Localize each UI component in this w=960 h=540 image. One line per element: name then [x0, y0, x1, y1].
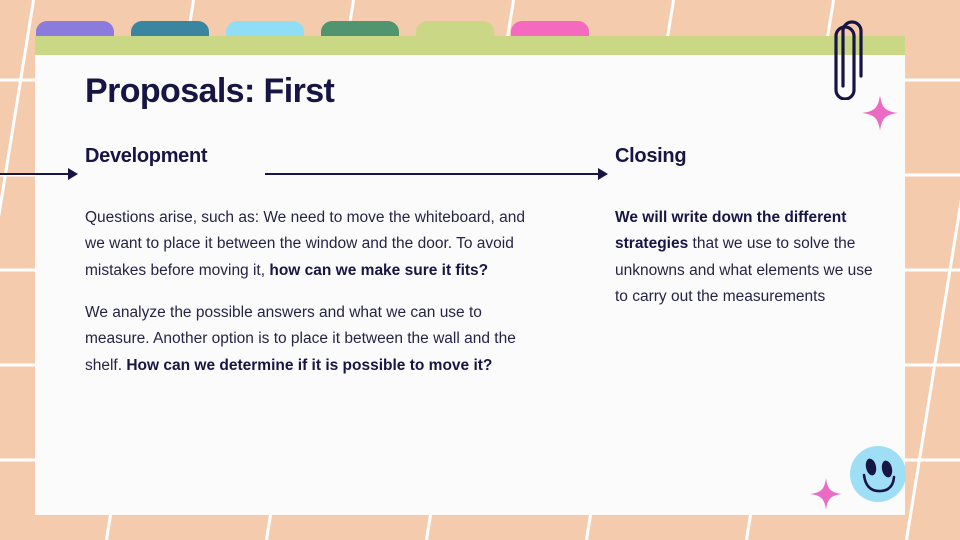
sparkle-star-bottom: [810, 478, 842, 515]
section-heading-closing: Closing: [615, 145, 686, 168]
four-point-star-icon: [810, 478, 842, 510]
four-point-star-icon: [862, 95, 898, 131]
sparkle-star-top-right: [862, 95, 898, 136]
paragraph: We analyze the possible answers and what…: [85, 300, 537, 379]
paragraph: We will write down the different strateg…: [615, 205, 883, 310]
text-run-bold: how can we make sure it fits?: [269, 262, 488, 279]
text-run-bold: How can we determine if it is possible t…: [126, 357, 492, 374]
accent-bar: [35, 36, 905, 55]
smiley-decoration: [848, 444, 908, 509]
arrow-development-to-closing: [265, 164, 610, 184]
paragraph: Questions arise, such as: We need to mov…: [85, 205, 537, 284]
paperclip-icon: [832, 14, 868, 100]
smiley-face-icon: [848, 444, 908, 504]
section-heading-development: Development: [85, 145, 207, 168]
page-title: Proposals: First: [85, 72, 334, 111]
column-closing-body: We will write down the different strateg…: [615, 205, 883, 310]
column-development-body: Questions arise, such as: We need to mov…: [85, 205, 537, 379]
slide-canvas: Proposals: First Development Closing Que…: [0, 0, 960, 540]
arrow-into-development: [0, 164, 80, 184]
paperclip-decoration: [832, 14, 868, 105]
